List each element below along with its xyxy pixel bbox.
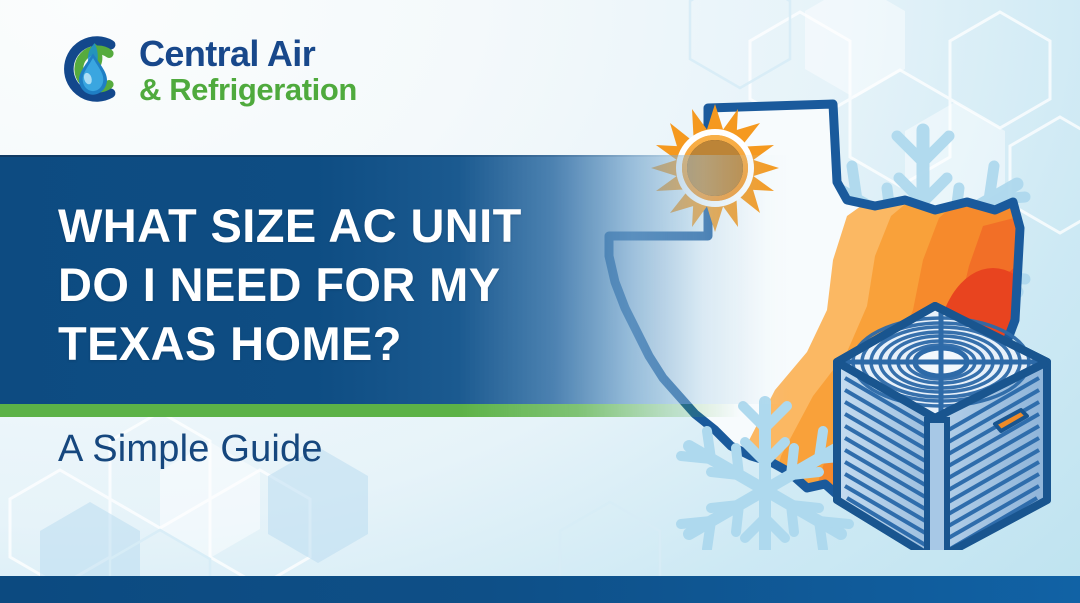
- page-subtitle: A Simple Guide: [58, 428, 323, 471]
- brand-wordmark: Central Air & Refrigeration: [139, 34, 357, 105]
- promo-banner-canvas: WHAT SIZE AC UNIT DO I NEED FOR MY TEXAS…: [0, 0, 1080, 603]
- headline-line-1: WHAT SIZE AC UNIT: [58, 196, 678, 255]
- brand-name-line-1: Central Air: [139, 36, 357, 72]
- footer-bar: [0, 576, 1080, 603]
- snowflake-icon-large: [821, 130, 1025, 346]
- snowflake-icon-small: [681, 402, 849, 550]
- accent-stripe: [0, 404, 740, 417]
- headline-line-2: DO I NEED FOR MY: [58, 255, 678, 314]
- ac-condenser-unit-icon: [837, 306, 1047, 550]
- brand-name-line-2: & Refrigeration: [139, 74, 357, 105]
- water-drop-circle-logo-icon: [56, 30, 130, 108]
- page-title: WHAT SIZE AC UNIT DO I NEED FOR MY TEXAS…: [58, 196, 678, 373]
- banner-top-edge: [0, 155, 700, 157]
- headline-line-3: TEXAS HOME?: [58, 314, 678, 373]
- brand-logo[interactable]: Central Air & Refrigeration: [56, 30, 357, 108]
